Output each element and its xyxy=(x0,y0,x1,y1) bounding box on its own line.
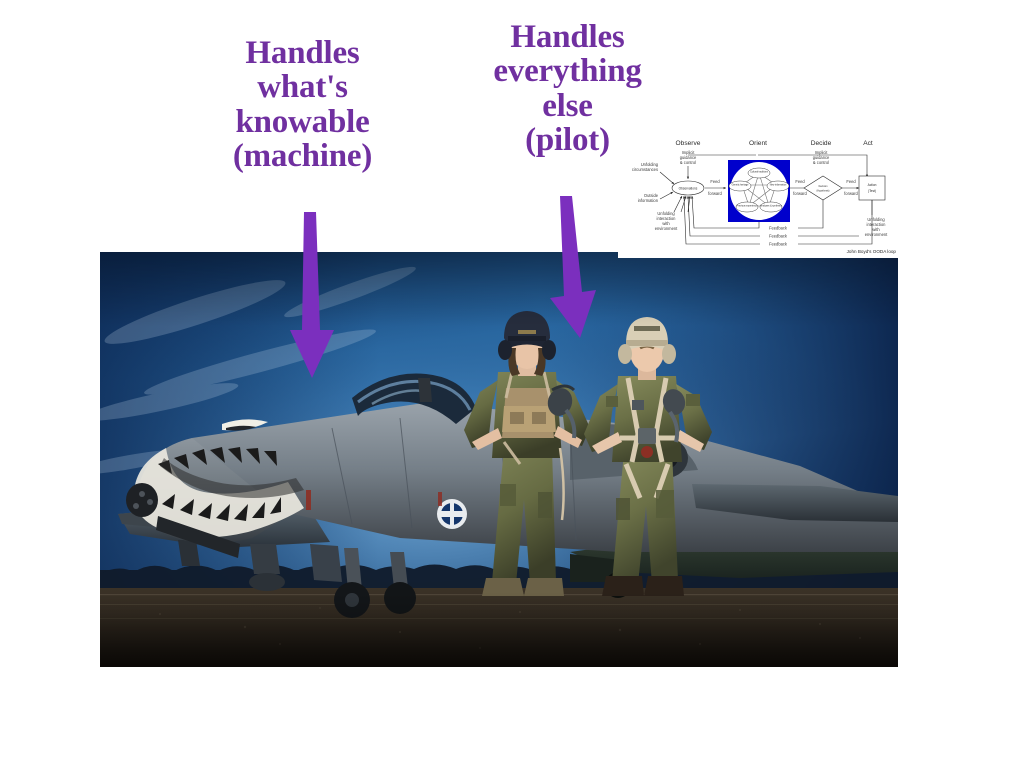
ooda-phase-orient: Orient xyxy=(749,140,767,147)
svg-text:& control: & control xyxy=(813,160,829,165)
ooda-orient-node-1: Genetic heritage xyxy=(732,183,750,186)
ooda-orient-node-4: Analyses & synthesis xyxy=(760,204,783,207)
svg-text:environment: environment xyxy=(865,232,888,237)
ooda-node-action: Action xyxy=(868,183,877,187)
arrow-to-machine xyxy=(282,212,352,380)
slide-canvas: 254 xyxy=(0,0,1024,759)
ooda-orient-node-3: Previous experience xyxy=(737,204,759,207)
svg-text:environment: environment xyxy=(655,226,678,231)
arrow-to-pilot xyxy=(544,196,614,342)
ooda-phase-act: Act xyxy=(863,140,873,147)
svg-text:Feed: Feed xyxy=(795,179,805,184)
ooda-feedback-1: Feedback xyxy=(769,225,788,230)
ooda-feedback-2: Feedback xyxy=(769,233,788,238)
ooda-orient-node-2: New information xyxy=(770,183,787,186)
svg-text:circumstances: circumstances xyxy=(632,167,658,172)
ooda-orient-node-0: Cultural traditions xyxy=(750,170,769,173)
callout-machine-text: Handles what's knowable (machine) xyxy=(205,36,400,173)
ooda-caption: John Boyd's OODA loop xyxy=(847,249,897,254)
svg-text:(Test): (Test) xyxy=(868,189,876,193)
svg-text:forward: forward xyxy=(844,191,858,196)
ooda-loop-diagram: .h{font-size:6.6px;fill:#2b2b2b;font-fam… xyxy=(618,133,900,258)
svg-text:Feed: Feed xyxy=(846,179,856,184)
ooda-node-decision: Decision xyxy=(819,186,829,188)
ooda-phase-decide: Decide xyxy=(811,140,832,147)
hero-photo: 254 xyxy=(100,252,898,667)
ooda-node-observations: Observations xyxy=(679,186,698,190)
svg-text:(Hypothesis): (Hypothesis) xyxy=(817,190,830,193)
svg-text:information: information xyxy=(638,198,659,203)
svg-text:forward: forward xyxy=(793,191,807,196)
svg-text:Feed: Feed xyxy=(710,179,720,184)
svg-text:forward: forward xyxy=(708,191,722,196)
svg-text:& control: & control xyxy=(680,160,696,165)
ooda-phase-observe: Observe xyxy=(676,140,701,147)
ooda-feedback-3: Feedback xyxy=(769,241,788,246)
